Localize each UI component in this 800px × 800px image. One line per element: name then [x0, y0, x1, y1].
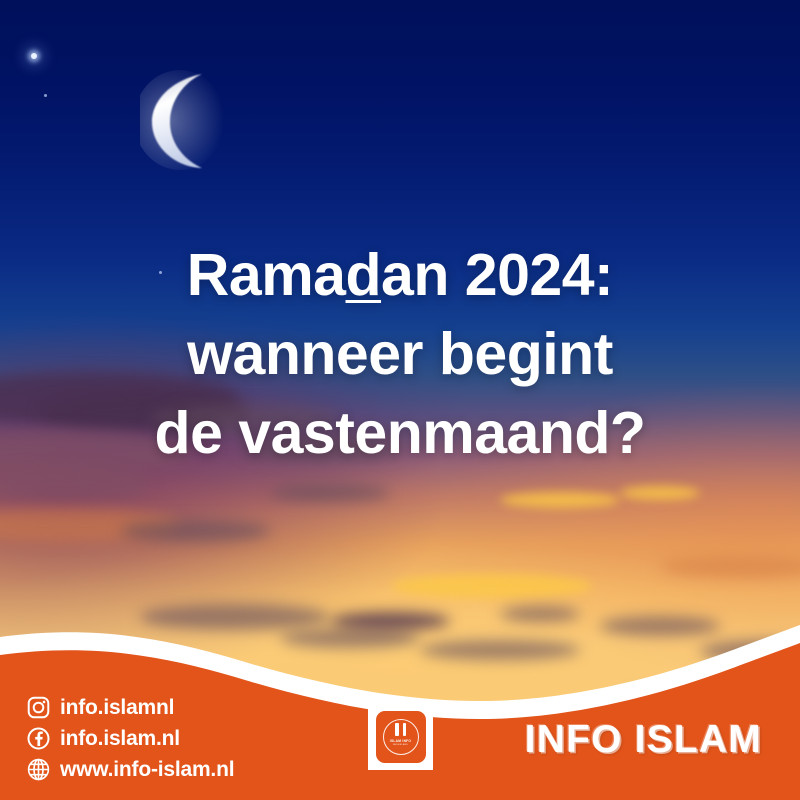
instagram-handle: info.islamnl	[60, 696, 174, 720]
info-islam-logo[interactable]: ISLAM INFO NEDERLAND	[368, 704, 433, 770]
headline-line-1-underlined-letter: d	[346, 242, 382, 308]
footer-content: info.islamnl info.islam.nl	[0, 615, 800, 800]
poster-canvas: Ramаdan 2024: wanneer begint de vastenma…	[0, 0, 800, 800]
headline-line-1: Ramаdan 2024:	[30, 236, 770, 315]
headline-title: Ramаdan 2024: wanneer begint de vastenma…	[0, 236, 800, 473]
globe-icon	[26, 757, 51, 782]
social-link-website[interactable]: www.info-islam.nl	[26, 757, 234, 782]
facebook-handle: info.islam.nl	[60, 727, 180, 751]
headline-line-1-part-b: an 2024:	[381, 242, 613, 308]
website-url: www.info-islam.nl	[60, 758, 234, 782]
facebook-icon	[26, 726, 51, 751]
brand-wordmark: INFO ISLAM	[525, 718, 762, 762]
logo-caption-secondary: NEDERLAND	[393, 744, 408, 746]
social-link-facebook[interactable]: info.islam.nl	[26, 726, 234, 751]
logo-bars-icon	[395, 723, 406, 736]
headline-line-2: wanneer begint	[30, 315, 770, 394]
headline-line-1-part-a: Ramа	[187, 242, 346, 308]
faint-star-icon	[44, 94, 47, 97]
social-link-instagram[interactable]: info.islamnl	[26, 695, 234, 720]
instagram-icon	[26, 695, 51, 720]
logo-inner-tile: ISLAM INFO NEDERLAND	[376, 711, 426, 763]
logo-caption-primary: ISLAM INFO	[390, 739, 411, 743]
crescent-moon-icon	[140, 68, 236, 172]
headline-line-3: de vastenmaand?	[30, 394, 770, 473]
social-links-list: info.islamnl info.islam.nl	[26, 695, 234, 782]
bright-star-icon	[31, 53, 37, 59]
